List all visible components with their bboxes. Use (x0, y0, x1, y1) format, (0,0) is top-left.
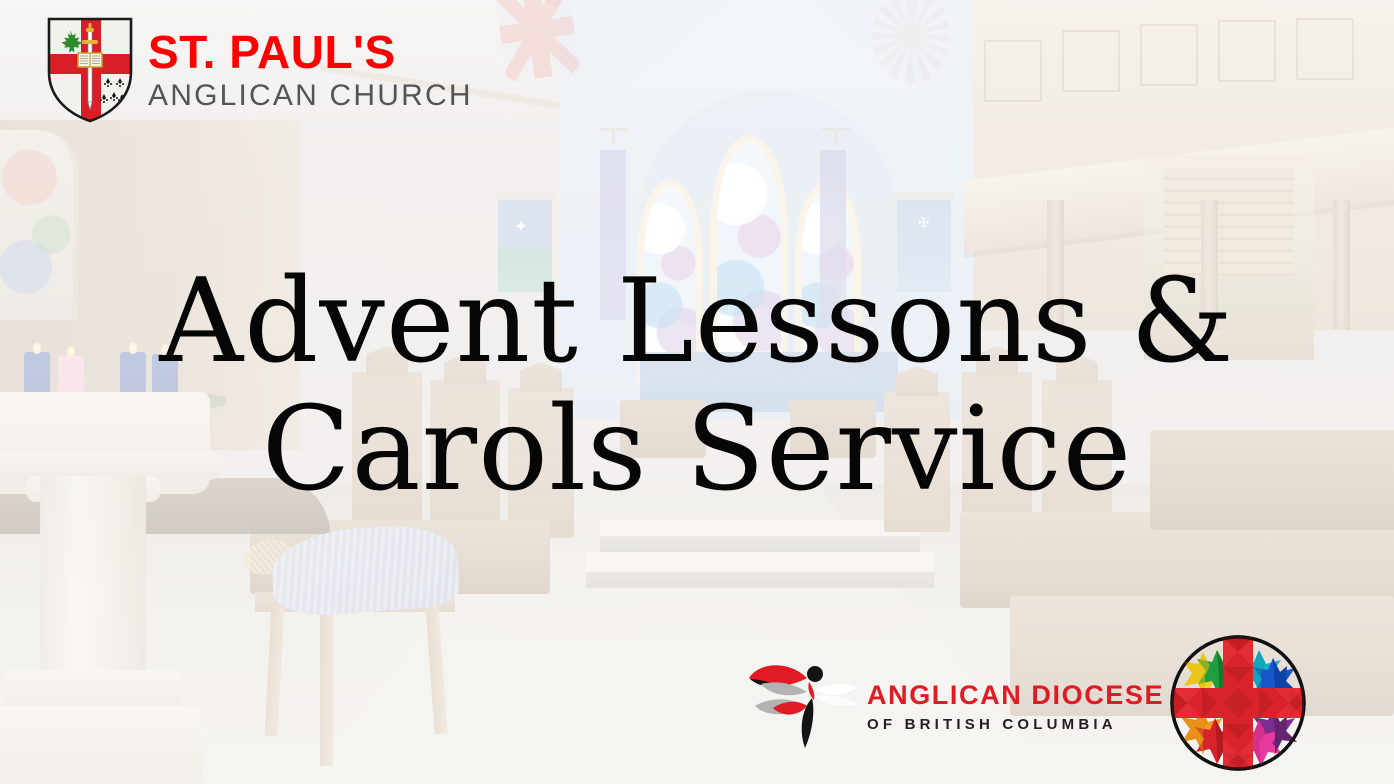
page-title-line-1: Advent Lessons & (40, 258, 1354, 386)
dragonfly-icon (745, 648, 857, 760)
anglican-shield-icon (46, 16, 134, 124)
diocese-logo-text: ANGLICAN DIOCESE OF BRITISH COLUMBIA (867, 676, 1164, 732)
slide-root: ✠ (0, 0, 1394, 784)
page-title: Advent Lessons & Carols Service (0, 258, 1394, 513)
diocese-name: ANGLICAN DIOCESE (867, 682, 1164, 709)
quilted-cross-in-circle-icon (1163, 628, 1313, 778)
anglican-diocese-logo[interactable]: ANGLICAN DIOCESE OF BRITISH COLUMBIA (745, 648, 1164, 760)
page-title-line-2: Carols Service (40, 386, 1354, 514)
church-name: ST. PAUL'S (148, 29, 473, 75)
church-subtitle: ANGLICAN CHURCH (148, 81, 473, 111)
compass-rose-logo[interactable] (1163, 628, 1313, 783)
st-pauls-logo-text: ST. PAUL'S ANGLICAN CHURCH (148, 29, 473, 111)
diocese-region: OF BRITISH COLUMBIA (867, 717, 1164, 732)
st-pauls-logo[interactable]: ST. PAUL'S ANGLICAN CHURCH (46, 16, 473, 124)
